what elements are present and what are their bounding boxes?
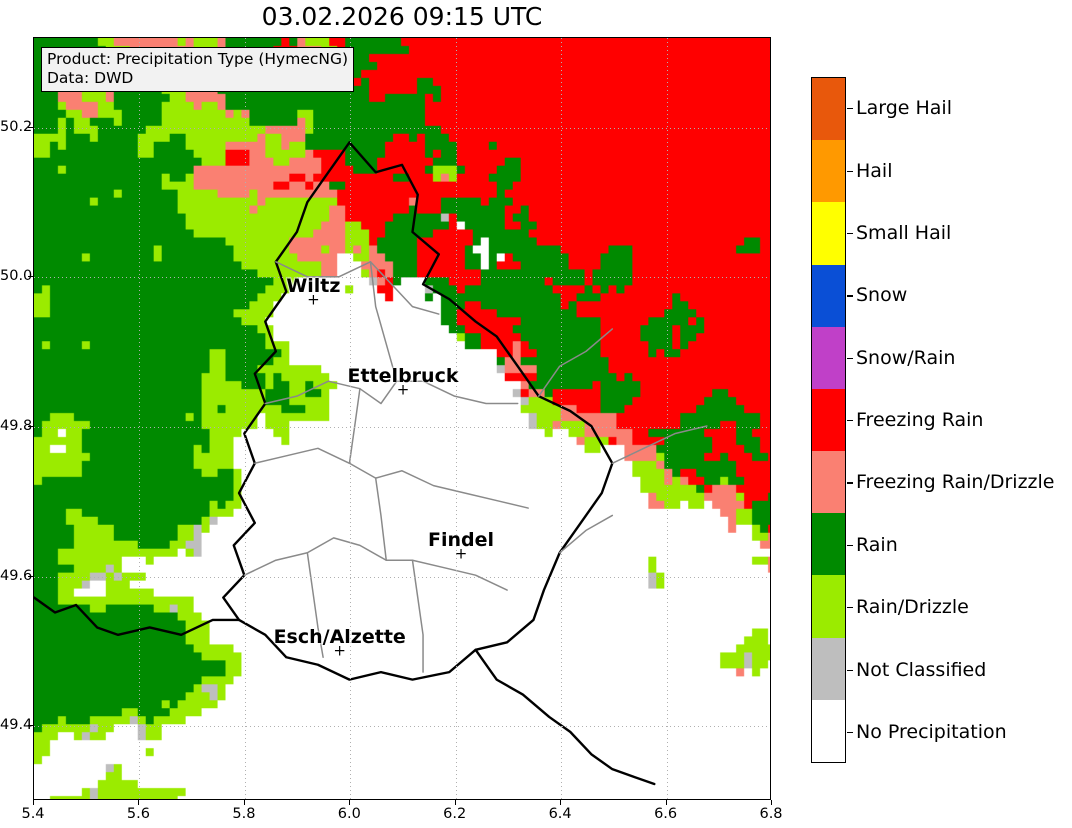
x-axis-tick-label: 5.4 bbox=[21, 806, 44, 822]
colorbar-tick bbox=[847, 171, 853, 172]
colorbar-tick bbox=[847, 295, 853, 296]
colorbar-band-large-hail[interactable] bbox=[812, 78, 845, 140]
info-product-line: Product: Precipitation Type (HymecNG) bbox=[47, 50, 348, 69]
colorbar-label-large-hail: Large Hail bbox=[856, 97, 952, 119]
gridline-horizontal bbox=[34, 128, 770, 129]
x-axis-tick-label: 6.4 bbox=[549, 806, 572, 822]
city-marker-findel: + bbox=[455, 547, 468, 562]
colorbar-tick bbox=[847, 420, 853, 421]
colorbar-label-rain-drizzle: Rain/Drizzle bbox=[856, 596, 969, 618]
x-axis-tick bbox=[138, 800, 139, 805]
gridline-horizontal bbox=[34, 277, 770, 278]
district-border-2 bbox=[370, 262, 396, 381]
gridline-vertical bbox=[561, 38, 562, 799]
gridline-vertical bbox=[350, 38, 351, 799]
x-axis-tick bbox=[455, 800, 456, 805]
colorbar-tick bbox=[847, 607, 853, 608]
colorbar-band-snow-rain[interactable] bbox=[812, 327, 845, 389]
gridline-horizontal bbox=[34, 427, 770, 428]
colorbar-band-not-classified[interactable] bbox=[812, 638, 845, 700]
colorbar-tick bbox=[847, 732, 853, 733]
gridline-vertical bbox=[456, 38, 457, 799]
colorbar-band-rain-drizzle[interactable] bbox=[812, 575, 845, 637]
y-axis-tick-label: 49.6 bbox=[0, 568, 26, 584]
gridline-horizontal bbox=[34, 577, 770, 578]
colorbar-band-hail[interactable] bbox=[812, 140, 845, 202]
x-axis-tick-label: 6.2 bbox=[443, 806, 466, 822]
x-axis-tick bbox=[244, 800, 245, 805]
colorbar-tick bbox=[847, 482, 853, 483]
colorbar-label-freezing-rain: Freezing Rain bbox=[856, 409, 983, 431]
product-info-box: Product: Precipitation Type (HymecNG) Da… bbox=[41, 47, 354, 92]
colorbar-label-no-precipitation: No Precipitation bbox=[856, 721, 1007, 743]
colorbar-label-freezing-rain-drizzle: Freezing Rain/Drizzle bbox=[856, 471, 1055, 493]
colorbar-label-snow-rain: Snow/Rain bbox=[856, 347, 955, 369]
colorbar-label-small-hail: Small Hail bbox=[856, 222, 951, 244]
district-border-10 bbox=[612, 426, 707, 463]
colorbar-tick bbox=[847, 670, 853, 671]
x-axis-tick-label: 6.8 bbox=[759, 806, 782, 822]
colorbar-tick bbox=[847, 358, 853, 359]
district-border-3 bbox=[255, 448, 528, 508]
france-germany-border bbox=[476, 650, 655, 784]
colorbar-label-rain: Rain bbox=[856, 534, 898, 556]
y-axis-tick-label: 50.2 bbox=[0, 119, 26, 135]
city-marker-ettelbruck: + bbox=[397, 382, 410, 397]
colorbar-tick bbox=[847, 545, 853, 546]
x-axis-tick bbox=[771, 800, 772, 805]
page-title: 03.02.2026 09:15 UTC bbox=[33, 2, 771, 32]
y-axis-tick-label: 49.8 bbox=[0, 418, 26, 434]
colorbar-label-not-classified: Not Classified bbox=[856, 659, 986, 681]
x-axis-tick bbox=[560, 800, 561, 805]
district-border-6 bbox=[376, 478, 387, 560]
colorbar-label-snow: Snow bbox=[856, 284, 907, 306]
x-axis-tick-label: 5.8 bbox=[232, 806, 255, 822]
colorbar-band-freezing-rain-drizzle[interactable] bbox=[812, 451, 845, 513]
colorbar-band-snow[interactable] bbox=[812, 265, 845, 327]
gridline-horizontal bbox=[34, 726, 770, 727]
district-border-9 bbox=[560, 515, 613, 552]
district-border-11 bbox=[539, 329, 613, 396]
x-axis-tick-label: 6.6 bbox=[654, 806, 677, 822]
map-plot-area[interactable]: Wiltz+Ettelbruck+Findel+Esch/Alzette+ Pr… bbox=[33, 37, 771, 800]
belgium-france-border bbox=[34, 598, 239, 635]
info-data-line: Data: DWD bbox=[47, 69, 348, 88]
gridline-vertical bbox=[245, 38, 246, 799]
precipitation-type-colorbar[interactable] bbox=[811, 77, 846, 763]
colorbar-band-no-precipitation[interactable] bbox=[812, 700, 845, 762]
x-axis-tick bbox=[33, 800, 34, 805]
map-borders-overlay bbox=[34, 38, 770, 799]
gridline-vertical bbox=[667, 38, 668, 799]
colorbar-tick bbox=[847, 233, 853, 234]
y-axis-tick-label: 50.0 bbox=[0, 268, 26, 284]
y-axis-tick-label: 49.4 bbox=[0, 717, 26, 733]
x-axis-tick-label: 5.6 bbox=[127, 806, 150, 822]
colorbar-band-small-hail[interactable] bbox=[812, 202, 845, 264]
colorbar-band-rain[interactable] bbox=[812, 513, 845, 575]
x-axis-tick-label: 6.0 bbox=[338, 806, 361, 822]
colorbar-tick bbox=[847, 108, 853, 109]
colorbar-label-hail: Hail bbox=[856, 160, 893, 182]
x-axis-tick bbox=[666, 800, 667, 805]
x-axis-tick bbox=[349, 800, 350, 805]
gridline-vertical bbox=[139, 38, 140, 799]
colorbar-band-freezing-rain[interactable] bbox=[812, 389, 845, 451]
city-marker-wiltz: + bbox=[307, 292, 320, 307]
city-marker-esch-alzette: + bbox=[333, 644, 346, 659]
